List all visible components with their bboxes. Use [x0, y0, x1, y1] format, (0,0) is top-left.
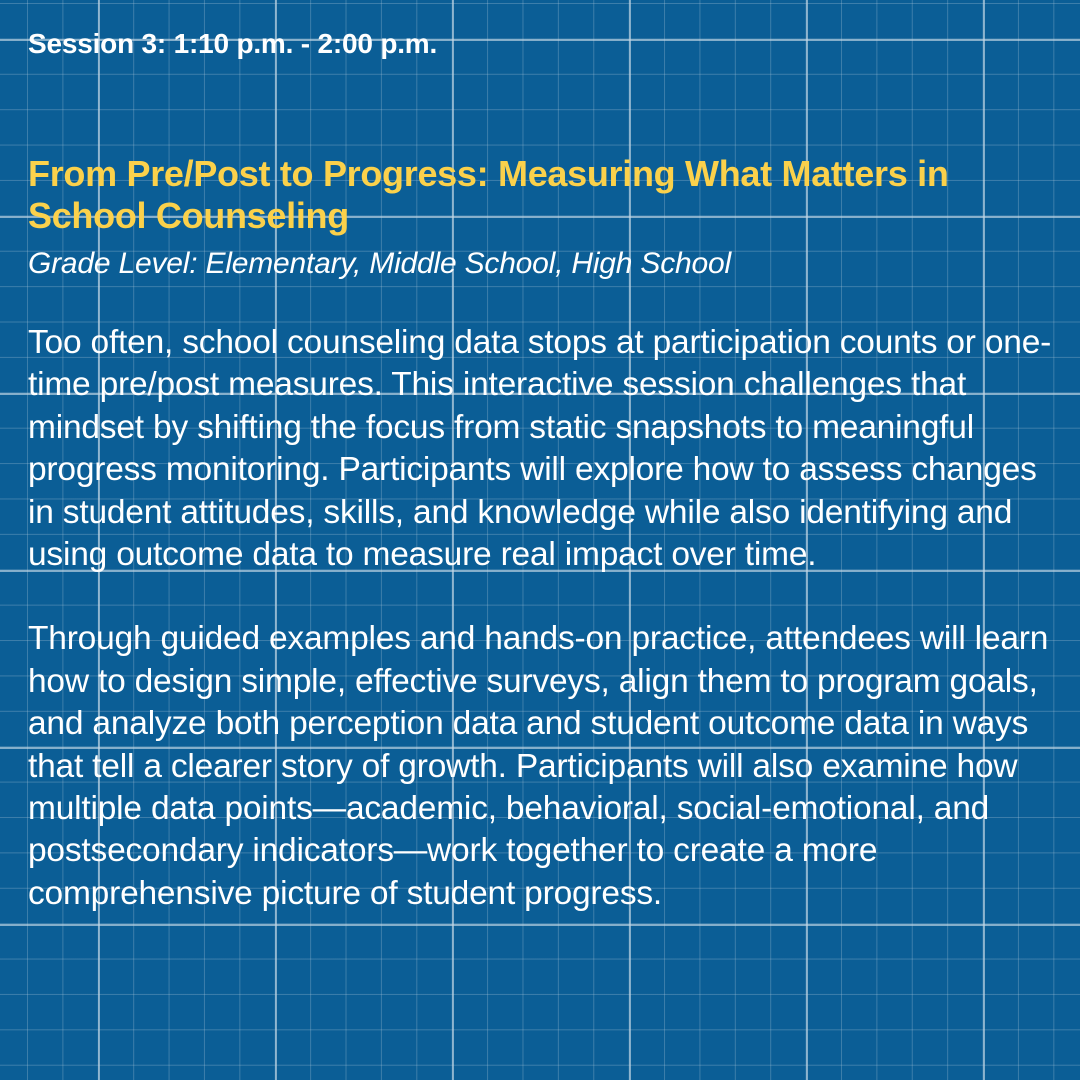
session-title: From Pre/Post to Progress: Measuring Wha… [28, 153, 1052, 238]
session-description: Too often, school counseling data stops … [28, 322, 1052, 915]
description-paragraph: Too often, school counseling data stops … [28, 322, 1052, 576]
session-time-label: Session 3: 1:10 p.m. - 2:00 p.m. [28, 29, 437, 60]
session-slide: Session 3: 1:10 p.m. - 2:00 p.m. From Pr… [0, 0, 1080, 1080]
slide-content: Session 3: 1:10 p.m. - 2:00 p.m. From Pr… [0, 0, 1080, 1080]
title-block: From Pre/Post to Progress: Measuring Wha… [28, 153, 1052, 282]
grade-level-label: Grade Level: Elementary, Middle School, … [28, 246, 1052, 282]
description-paragraph: Through guided examples and hands-on pra… [28, 618, 1052, 915]
